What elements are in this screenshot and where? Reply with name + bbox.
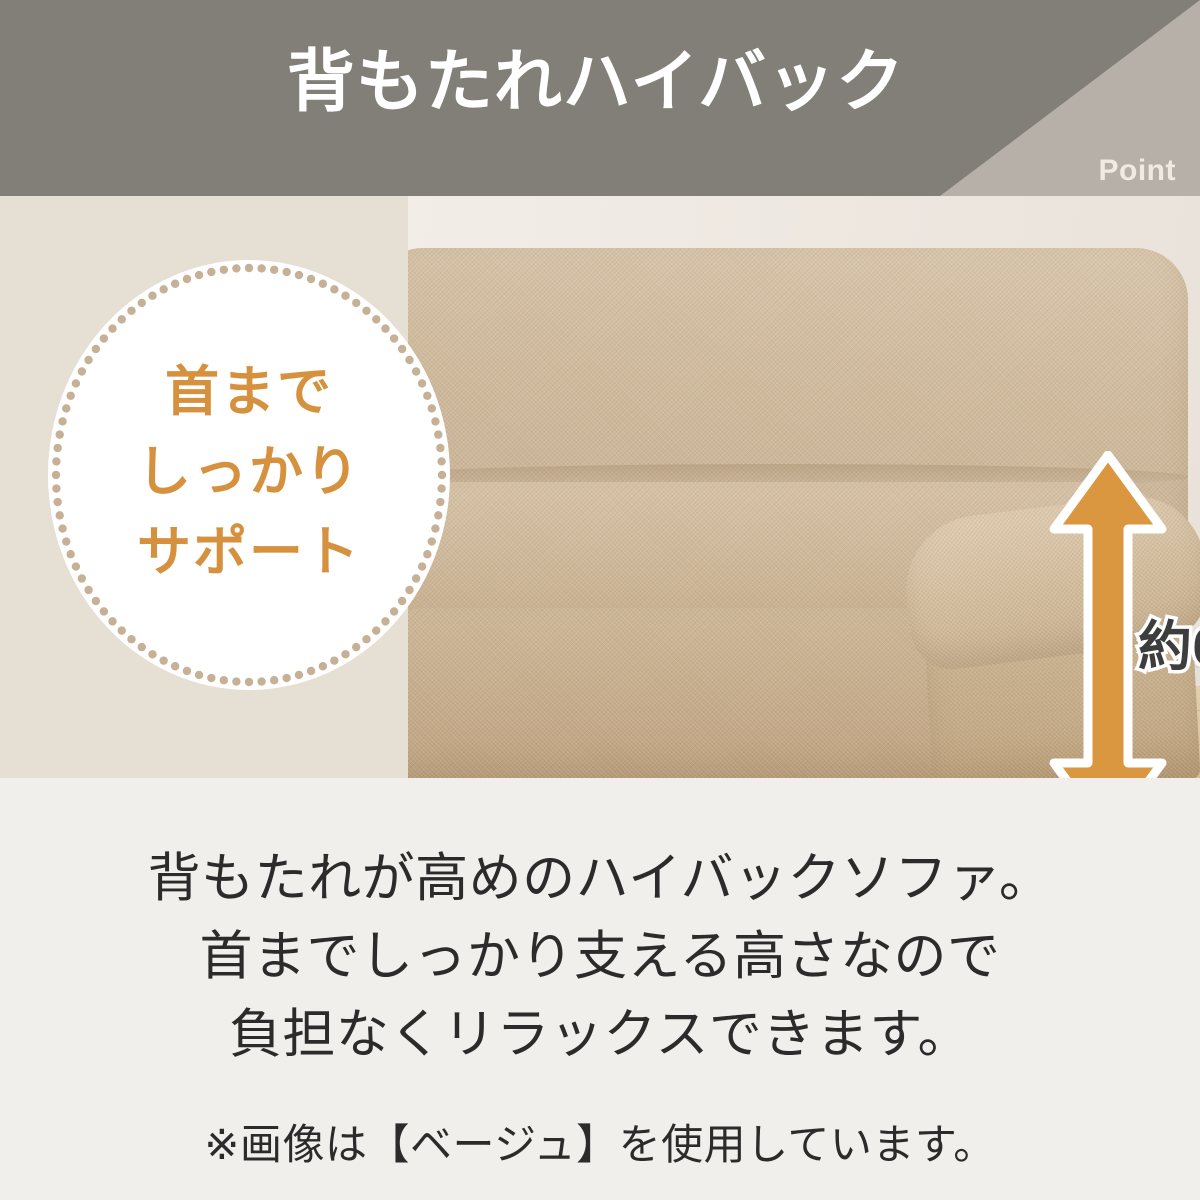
description-line-3: 負担なくリラックスできます。 <box>0 996 1200 1074</box>
description-line-1: 背もたれが高めのハイバックソファ。 <box>0 840 1200 918</box>
description-text: 背もたれが高めのハイバックソファ。 首までしっかり支える高さなので 負担なくリラ… <box>0 840 1200 1074</box>
color-footnote: ※画像は【ベージュ】を使用しています。 <box>0 1120 1200 1170</box>
page-title: 背もたれハイバック <box>0 44 1200 120</box>
dimension-label: 約62cm <box>1138 616 1200 678</box>
description-line-2: 首までしっかり支える高さなので <box>0 918 1200 996</box>
badge-text: 首まで しっかり サポート <box>48 352 450 592</box>
badge-line-1: 首まで <box>48 352 450 432</box>
product-feature-panel: 背もたれハイバック Point 約62cm <box>0 0 1200 1200</box>
badge-line-3: サポート <box>48 512 450 592</box>
header-banner: 背もたれハイバック Point <box>0 0 1200 196</box>
measurement-arrow <box>1048 451 1168 778</box>
support-callout-badge: 首まで しっかり サポート <box>48 260 450 690</box>
double-arrow-icon <box>1048 451 1168 778</box>
badge-line-2: しっかり <box>48 432 450 512</box>
sofa-photo: 約62cm <box>408 196 1200 778</box>
point-badge-label: Point <box>1099 154 1177 188</box>
photo-band: 約62cm 首まで しっかり サポート <box>0 196 1200 778</box>
